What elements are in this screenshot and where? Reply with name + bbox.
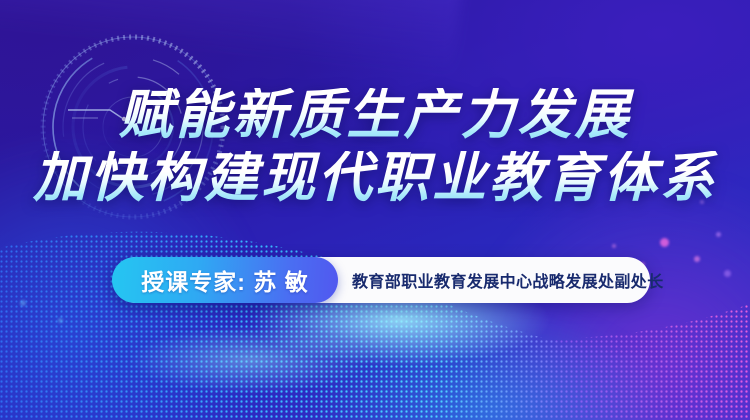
speaker-info-bar: 授课专家: 苏 敏 教育部职业教育发展中心战略发展处副处长: [113, 257, 650, 303]
speaker-affiliation-label: 教育部职业教育发展中心战略发展处副处长: [338, 268, 664, 292]
poster-canvas: 赋能新质生产力发展 加快构建现代职业教育体系 授课专家: 苏 敏 教育部职业教育…: [0, 0, 750, 420]
title-line-2: 加快构建现代职业教育体系: [0, 151, 750, 205]
poster-title: 赋能新质生产力发展 加快构建现代职业教育体系: [0, 88, 750, 205]
bokeh-dots-icon: [0, 0, 750, 420]
speaker-name-pill: 授课专家: 苏 敏: [112, 257, 338, 303]
title-line-1: 赋能新质生产力发展: [0, 88, 750, 142]
speaker-name-label: 授课专家: 苏 敏: [125, 263, 324, 297]
